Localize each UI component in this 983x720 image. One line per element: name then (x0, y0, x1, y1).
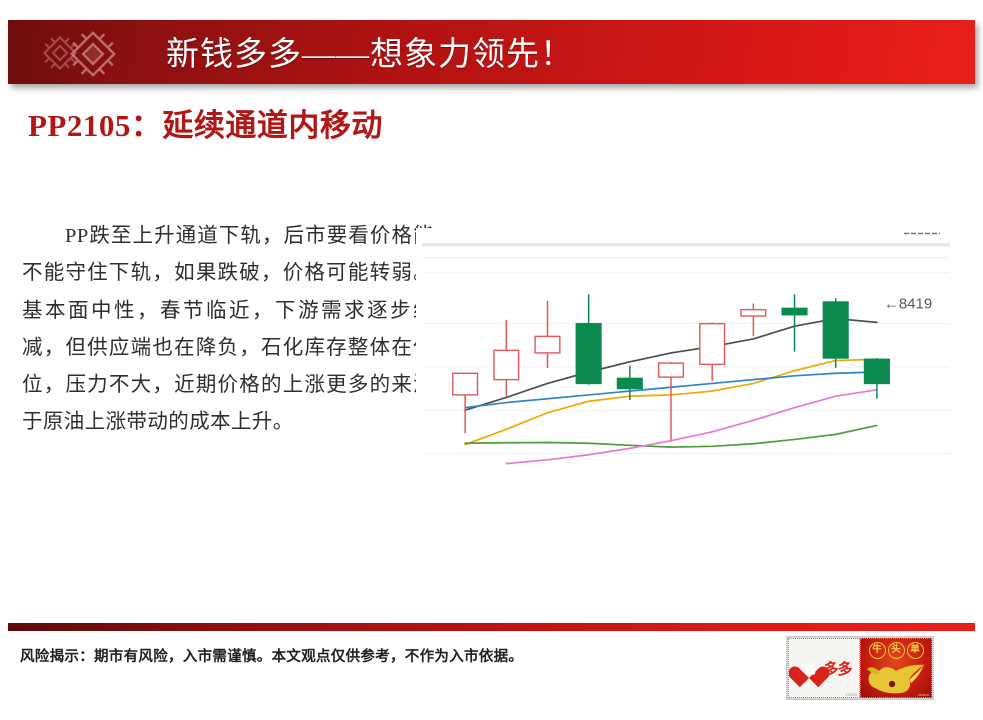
banner-title: 新钱多多——想象力领先！ (166, 27, 574, 75)
brand-logo: 钱 多多 LOGO 牛 头 单 niutou (786, 636, 934, 700)
logo-right-characters: 牛 头 单 (861, 642, 931, 659)
bull-head-icon (865, 662, 927, 696)
chinese-knot-diamond-icon (30, 24, 130, 82)
chart-canvas: ←8419 (416, 228, 956, 520)
header-banner: 新钱多多——想象力领先！ (8, 20, 975, 84)
price-annotation: ←8419 (884, 296, 932, 313)
body-paragraph: PP跌至上升通道下轨，后市要看价格能不能守住下轨，如果跌破，价格可能转弱。基本面… (22, 218, 434, 442)
logo-left-micro-text: LOGO (845, 692, 857, 697)
logo-char-1: 牛 (869, 642, 886, 659)
footer-divider (8, 623, 975, 631)
logo-heart-character: 钱 (796, 660, 822, 677)
chart-gridlines (422, 245, 950, 454)
logo-char-2: 头 (888, 642, 905, 659)
page-title: PP2105：延续通道内移动 (28, 105, 428, 148)
logo-right-micro-text: niutou (918, 692, 929, 697)
svg-text:←8419: ←8419 (884, 296, 932, 313)
candle-series (453, 294, 889, 440)
logo-right-panel: 牛 头 单 niutou (860, 638, 932, 698)
heart-icon: 钱 (796, 656, 822, 680)
candlestick-chart: ←8419 (416, 228, 956, 520)
logo-left-panel: 钱 多多 LOGO (788, 638, 860, 698)
logo-char-3: 单 (907, 642, 924, 659)
footer-disclaimer: 风险揭示：期市有风险，入市需谨慎。本文观点仅供参考，不作为入市依据。 (20, 645, 523, 666)
